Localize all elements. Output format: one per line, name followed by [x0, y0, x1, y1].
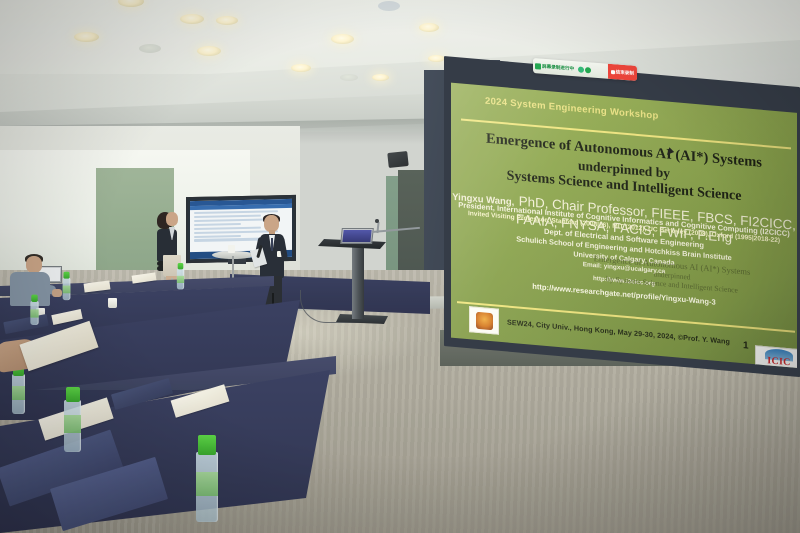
monitor-row	[194, 210, 278, 214]
monitor-row	[194, 235, 241, 238]
recording-status-segment[interactable]: 屏幕录制进行中	[533, 58, 576, 76]
screenshot-root: 2024 System Engineering Workshop Emergen…	[0, 0, 800, 533]
presentation-slide: 2024 System Engineering Workshop Emergen…	[451, 83, 797, 368]
downlight-icon	[139, 44, 161, 53]
water-bottle	[12, 374, 25, 414]
podium-column	[352, 247, 364, 319]
monitor-toolbar	[190, 204, 292, 210]
ceiling-speaker-icon	[387, 151, 408, 168]
mic-icon[interactable]	[535, 63, 541, 69]
attendee-head	[166, 212, 178, 226]
downlight-icon	[372, 74, 389, 81]
downlight-icon	[74, 32, 99, 42]
icic-logo: ICIC	[755, 345, 797, 368]
ceiling-vent-icon	[378, 1, 400, 11]
university-crest-icon	[469, 306, 499, 335]
paper-cup	[108, 298, 117, 308]
water-bottle	[196, 452, 218, 522]
water-bottle	[64, 400, 81, 452]
slide-page-number: 1	[743, 340, 749, 351]
cloud-icon[interactable]	[578, 66, 584, 72]
downlight-icon	[331, 34, 354, 44]
microphone-icon	[375, 219, 379, 223]
recording-options-segment[interactable]	[576, 61, 593, 77]
water-bottle	[177, 269, 184, 290]
downlight-icon	[216, 16, 238, 25]
seated-hand	[52, 289, 62, 297]
stop-square-icon	[611, 69, 615, 73]
seated-head	[26, 256, 42, 273]
projection-screen: 2024 System Engineering Workshop Emergen…	[444, 56, 800, 377]
downlight-icon	[180, 14, 204, 24]
downlight-icon	[419, 23, 439, 32]
downlight-icon	[291, 64, 311, 72]
laptop-on-podium[interactable]	[340, 228, 374, 244]
camera-icon[interactable]	[585, 67, 591, 73]
laptop-screen	[342, 230, 371, 242]
paper-cup	[228, 245, 235, 253]
downlight-icon	[340, 74, 358, 81]
water-bottle	[30, 301, 38, 325]
monitor-row	[194, 223, 241, 226]
water-bottle	[63, 278, 71, 300]
downlight-icon	[197, 46, 221, 56]
downlight-icon	[428, 55, 445, 62]
presenter-tie	[271, 238, 273, 251]
stop-recording-button[interactable]: 结束录制	[608, 64, 637, 81]
recording-status-label: 屏幕录制进行中	[542, 63, 574, 71]
stop-recording-label: 结束录制	[616, 69, 634, 76]
slide-footer: SEW24, City Univ., Hong Kong, May 29-30,…	[507, 318, 743, 348]
